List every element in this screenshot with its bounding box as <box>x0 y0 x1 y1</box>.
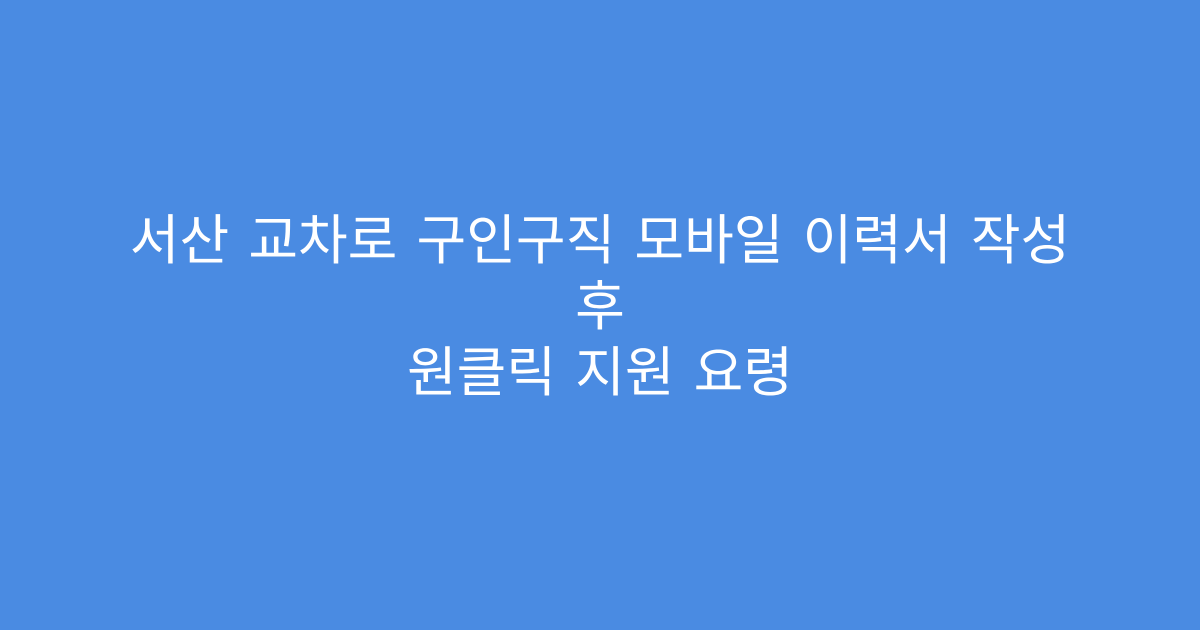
title-block: 서산 교차로 구인구직 모바일 이력서 작성 후 원클릭 지원 요령 <box>100 208 1100 406</box>
social-card: 서산 교차로 구인구직 모바일 이력서 작성 후 원클릭 지원 요령 <box>0 0 1200 630</box>
page-title: 서산 교차로 구인구직 모바일 이력서 작성 후 원클릭 지원 요령 <box>120 208 1080 406</box>
